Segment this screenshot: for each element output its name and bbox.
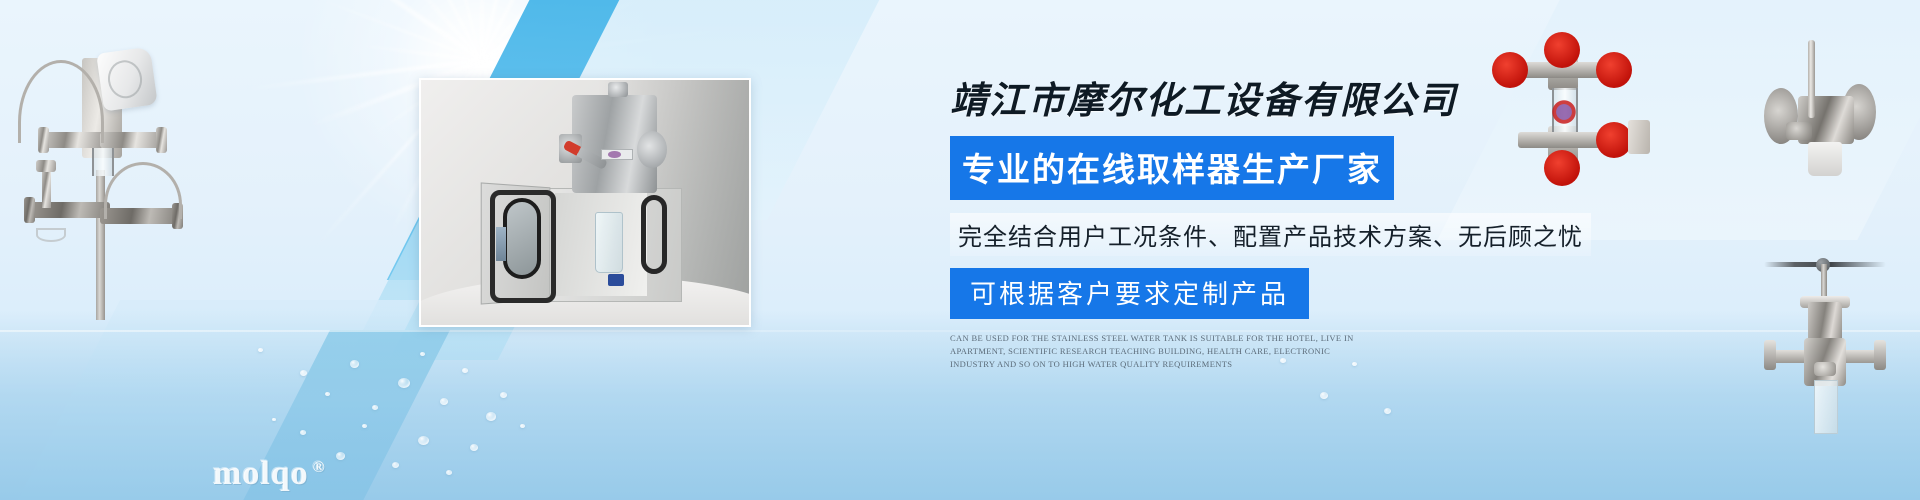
sun-ray	[481, 0, 664, 62]
sun-ray	[318, 0, 481, 61]
bypass-tube	[104, 162, 182, 219]
water-droplet	[440, 398, 448, 405]
left-equipment-render	[0, 20, 200, 320]
water-droplet	[336, 452, 345, 460]
side-gasket	[641, 195, 667, 274]
water-droplet	[300, 430, 306, 435]
drain-cup	[36, 228, 66, 242]
sun-ray	[481, 29, 727, 61]
drain-assembly	[1628, 120, 1650, 154]
sun-ray	[480, 0, 652, 60]
sun-ray	[481, 0, 600, 62]
product-photo	[419, 78, 751, 327]
flange	[156, 127, 167, 153]
relief-valve	[42, 168, 51, 208]
text-content-block: 靖江市摩尔化工设备有限公司 专业的在线取样器生产厂家 完全结合用户工况条件、配置…	[950, 70, 1590, 371]
water-droplet	[1384, 408, 1391, 414]
port-flange-left	[1764, 340, 1776, 370]
watermark-logo: molqo®	[213, 455, 326, 493]
water-droplet	[398, 378, 410, 388]
sun-ray	[480, 0, 520, 60]
handwheel-lower-right	[1596, 122, 1632, 158]
tagline-badge: 可根据客户要求定制产品	[950, 268, 1309, 319]
sample-jar	[1814, 380, 1838, 434]
valve-nameplate	[1786, 122, 1812, 140]
english-description: CAN BE USED FOR THE STAINLESS STEEL WATE…	[950, 332, 1358, 371]
water-droplet	[258, 348, 263, 352]
watermark-text: molqo	[213, 455, 309, 492]
water-droplet	[470, 444, 478, 451]
sun-ray	[481, 59, 610, 76]
headline-badge: 专业的在线取样器生产厂家	[950, 136, 1394, 200]
handwheel-top	[1544, 32, 1580, 68]
water-droplet	[350, 360, 359, 368]
sun-ray	[428, 0, 481, 60]
valve-knob	[608, 82, 628, 97]
bonnet	[1808, 302, 1842, 342]
support-pole	[96, 170, 105, 320]
sun-ray	[361, 44, 481, 61]
transmitter-housing	[96, 47, 158, 112]
water-droplet	[362, 424, 367, 428]
water-droplet	[520, 424, 525, 428]
water-droplet	[486, 412, 496, 421]
valve-lever	[1808, 40, 1815, 118]
flange	[24, 197, 35, 223]
water-droplet	[420, 352, 425, 356]
subline-text: 完全结合用户工况条件、配置产品技术方案、无后顾之忧	[950, 213, 1591, 256]
valve-nameplate	[1814, 362, 1836, 376]
sun-ray	[480, 0, 577, 61]
door-key	[496, 227, 506, 261]
water-droplet	[462, 368, 468, 373]
sample-cup	[1808, 142, 1842, 176]
door-window	[503, 198, 541, 280]
water-droplet	[1320, 392, 1328, 399]
sun-ray	[294, 0, 483, 62]
diagonal-stripe	[0, 300, 420, 500]
water-droplet	[500, 392, 507, 398]
sun-ray	[404, 0, 482, 61]
sun-ray	[407, 0, 483, 61]
relief-cap	[36, 160, 56, 172]
valve-arm	[100, 132, 162, 148]
water-droplet	[446, 470, 452, 475]
handwheel-right	[1596, 52, 1632, 88]
sampling-valve-render	[1752, 262, 1920, 432]
registered-mark-icon: ®	[313, 459, 326, 476]
port-flange-right	[1874, 340, 1886, 370]
water-droplet	[272, 418, 276, 421]
bottle-cap	[608, 274, 624, 286]
water-droplet	[372, 405, 378, 410]
company-name: 靖江市摩尔化工设备有限公司	[950, 70, 1590, 124]
lever-valve-render	[1742, 18, 1920, 208]
water-droplet	[325, 392, 330, 396]
water-droplet	[300, 370, 307, 376]
sun-ray	[480, 0, 485, 60]
water-droplet	[392, 462, 399, 468]
sample-bottle	[595, 212, 623, 273]
valve-flange-right	[637, 131, 667, 168]
water-droplet	[418, 436, 429, 445]
promotional-banner: 靖江市摩尔化工设备有限公司 专业的在线取样器生产厂家 完全结合用户工况条件、配置…	[0, 0, 1920, 500]
